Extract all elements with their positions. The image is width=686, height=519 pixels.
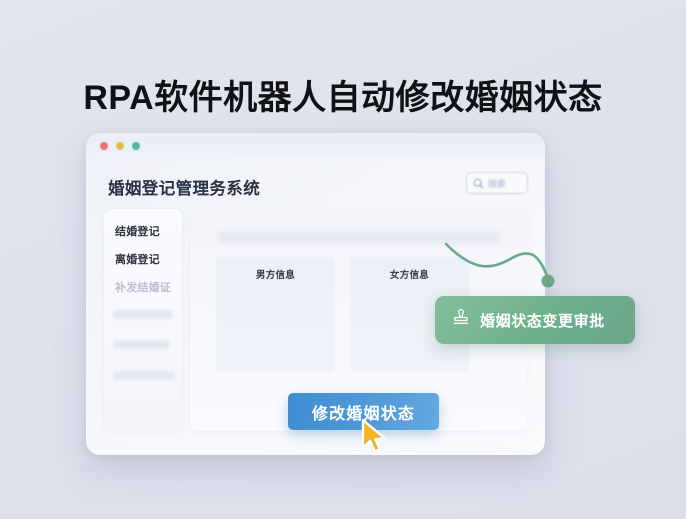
page-root: RPA软件机器人自动修改婚姻状态 婚姻登记管理务系统 搜索 结婚登记 离婚登记 … (0, 0, 686, 519)
search-input[interactable]: 搜索 (466, 172, 528, 194)
sidebar-item-reissue-certificate[interactable]: 补发结婚证 (115, 279, 171, 295)
info-card-groom-label: 男方信息 (216, 267, 335, 281)
sidebar-item-marriage-registration[interactable]: 结婚登记 (115, 223, 160, 239)
sidebar-placeholder-row (113, 340, 169, 349)
close-icon[interactable] (100, 142, 108, 150)
status-badge: 婚姻状态变更审批 (435, 296, 635, 344)
sidebar: 结婚登记 离婚登记 补发结婚证 (104, 209, 182, 431)
sidebar-placeholder-row (113, 371, 175, 380)
page-title: RPA软件机器人自动修改婚姻状态 (0, 75, 686, 121)
search-icon (473, 178, 484, 189)
panel-placeholder-bar (218, 231, 500, 244)
stamp-icon (451, 308, 471, 333)
maximize-icon[interactable] (132, 142, 140, 150)
modify-marriage-status-button[interactable]: 修改婚姻状态 (288, 393, 439, 430)
info-card-bride-label: 女方信息 (350, 267, 469, 281)
window-titlebar (86, 133, 545, 159)
traffic-lights (100, 142, 140, 150)
status-badge-label: 婚姻状态变更审批 (480, 310, 605, 331)
sidebar-placeholder-row (113, 310, 173, 319)
sidebar-item-divorce-registration[interactable]: 离婚登记 (115, 251, 160, 267)
minimize-icon[interactable] (116, 142, 124, 150)
app-title: 婚姻登记管理务系统 (108, 175, 260, 199)
search-placeholder: 搜索 (488, 177, 506, 190)
